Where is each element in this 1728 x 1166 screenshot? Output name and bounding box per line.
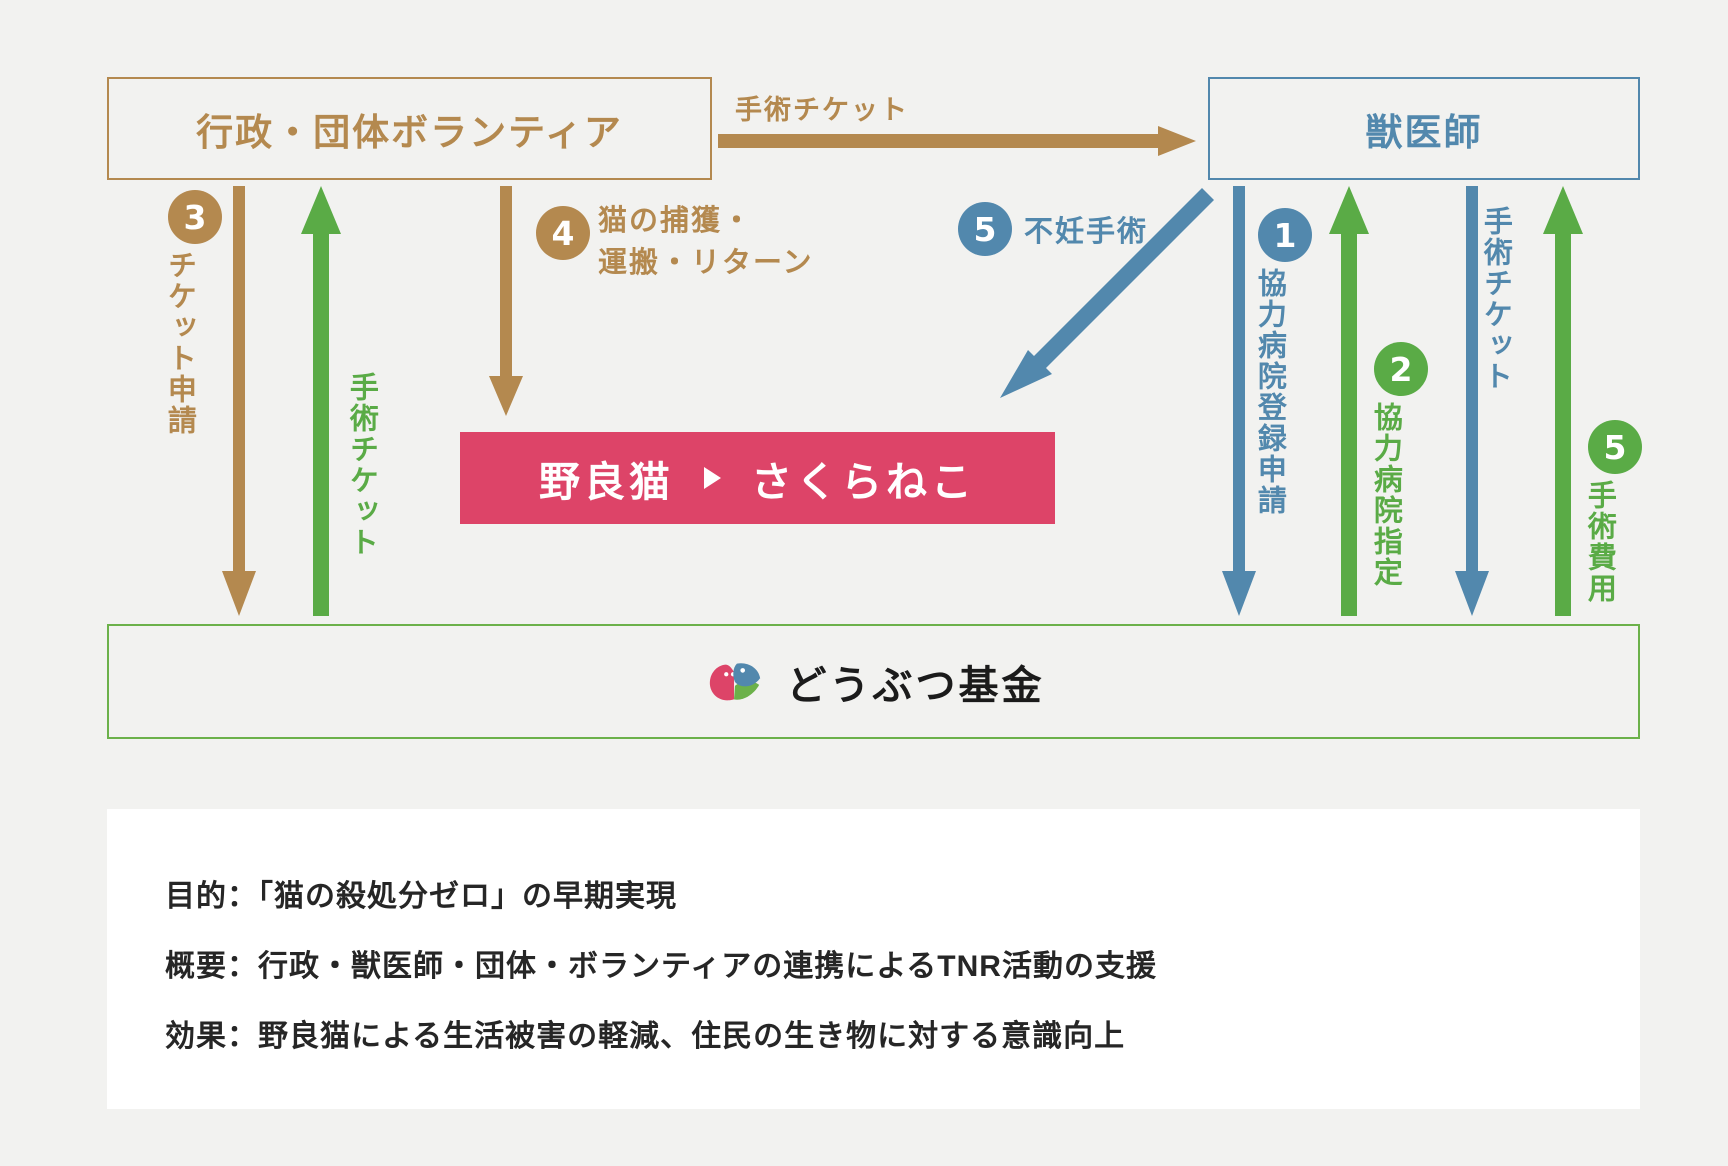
summary-purpose: 目的：「猫の殺処分ゼロ」の早期実現 <box>165 871 1640 915</box>
arrow-surgery-ticket-to-gov <box>301 186 341 616</box>
node-animal-fund-label: どうぶつ基金 <box>787 653 1045 711</box>
doubutsu-kikin-logo <box>703 653 765 711</box>
arrow-ticket-application <box>222 186 256 616</box>
node-government-volunteer: 行政・団体ボランティア <box>107 77 712 180</box>
flow-label-surgery-ticket-to-fund: 手術チケット <box>1478 206 1511 392</box>
arrow-surgery-fee <box>1543 186 1583 616</box>
flow-number-2: 2 <box>1374 342 1428 396</box>
flow-label-surgery-fee: 手術費用 <box>1582 480 1615 604</box>
arrow-capture-transport-return <box>489 186 523 416</box>
arrow-partner-hospital-designation <box>1329 186 1369 616</box>
flow-number-5-fee: 5 <box>1588 420 1642 474</box>
stray-cat-label: 野良猫 <box>539 448 674 508</box>
node-veterinarian: 獣医師 <box>1208 77 1640 180</box>
flow-number-5-sterilization: 5 <box>958 202 1012 256</box>
flow-label-ticket-application: チケット申請 <box>162 250 195 436</box>
triangle-right-icon <box>704 467 721 489</box>
flow-label-sterilization-surgery: 不妊手術 <box>1024 208 1148 250</box>
node-veterinarian-label: 獣医師 <box>1366 102 1483 156</box>
flow-label-surgery-ticket-top: 手術チケット <box>735 88 909 127</box>
flow-label-surgery-ticket-to-gov: 手術チケット <box>344 372 377 558</box>
flow-label-partner-hospital-designation: 協力病院指定 <box>1368 402 1401 588</box>
flow-number-1: 1 <box>1258 208 1312 262</box>
flow-label-capture-transport-return: 猫の捕獲・ 運搬・リターン <box>598 200 814 284</box>
node-stray-cat-to-sakuraneko: 野良猫 さくらねこ <box>460 432 1055 524</box>
sakuraneko-label: さくらねこ <box>751 448 976 508</box>
flow-label-line-2: 運搬・リターン <box>598 242 814 284</box>
summary-effect: 効果：野良猫による生活被害の軽減、住民の生き物に対する意識向上 <box>165 1011 1640 1055</box>
flow-label-partner-hospital-registration: 協力病院登録申請 <box>1252 268 1285 516</box>
summary-panel: 目的：「猫の殺処分ゼロ」の早期実現 概要：行政・獣医師・団体・ボランティアの連携… <box>107 809 1640 1109</box>
diagram-canvas: 行政・団体ボランティア 獣医師 手術チケット 3 チケット申請 手術チケット 4… <box>0 0 1728 1166</box>
flow-number-4: 4 <box>536 206 590 260</box>
summary-overview: 概要：行政・獣医師・団体・ボランティアの連携によるTNR活動の支援 <box>165 941 1640 985</box>
flow-label-line-1: 猫の捕獲・ <box>598 200 814 242</box>
node-government-volunteer-label: 行政・団体ボランティア <box>196 102 623 156</box>
arrow-surgery-ticket-top <box>718 126 1196 156</box>
flow-number-3: 3 <box>168 190 222 244</box>
node-animal-fund: どうぶつ基金 <box>107 624 1640 739</box>
arrow-partner-hospital-registration <box>1222 186 1256 616</box>
